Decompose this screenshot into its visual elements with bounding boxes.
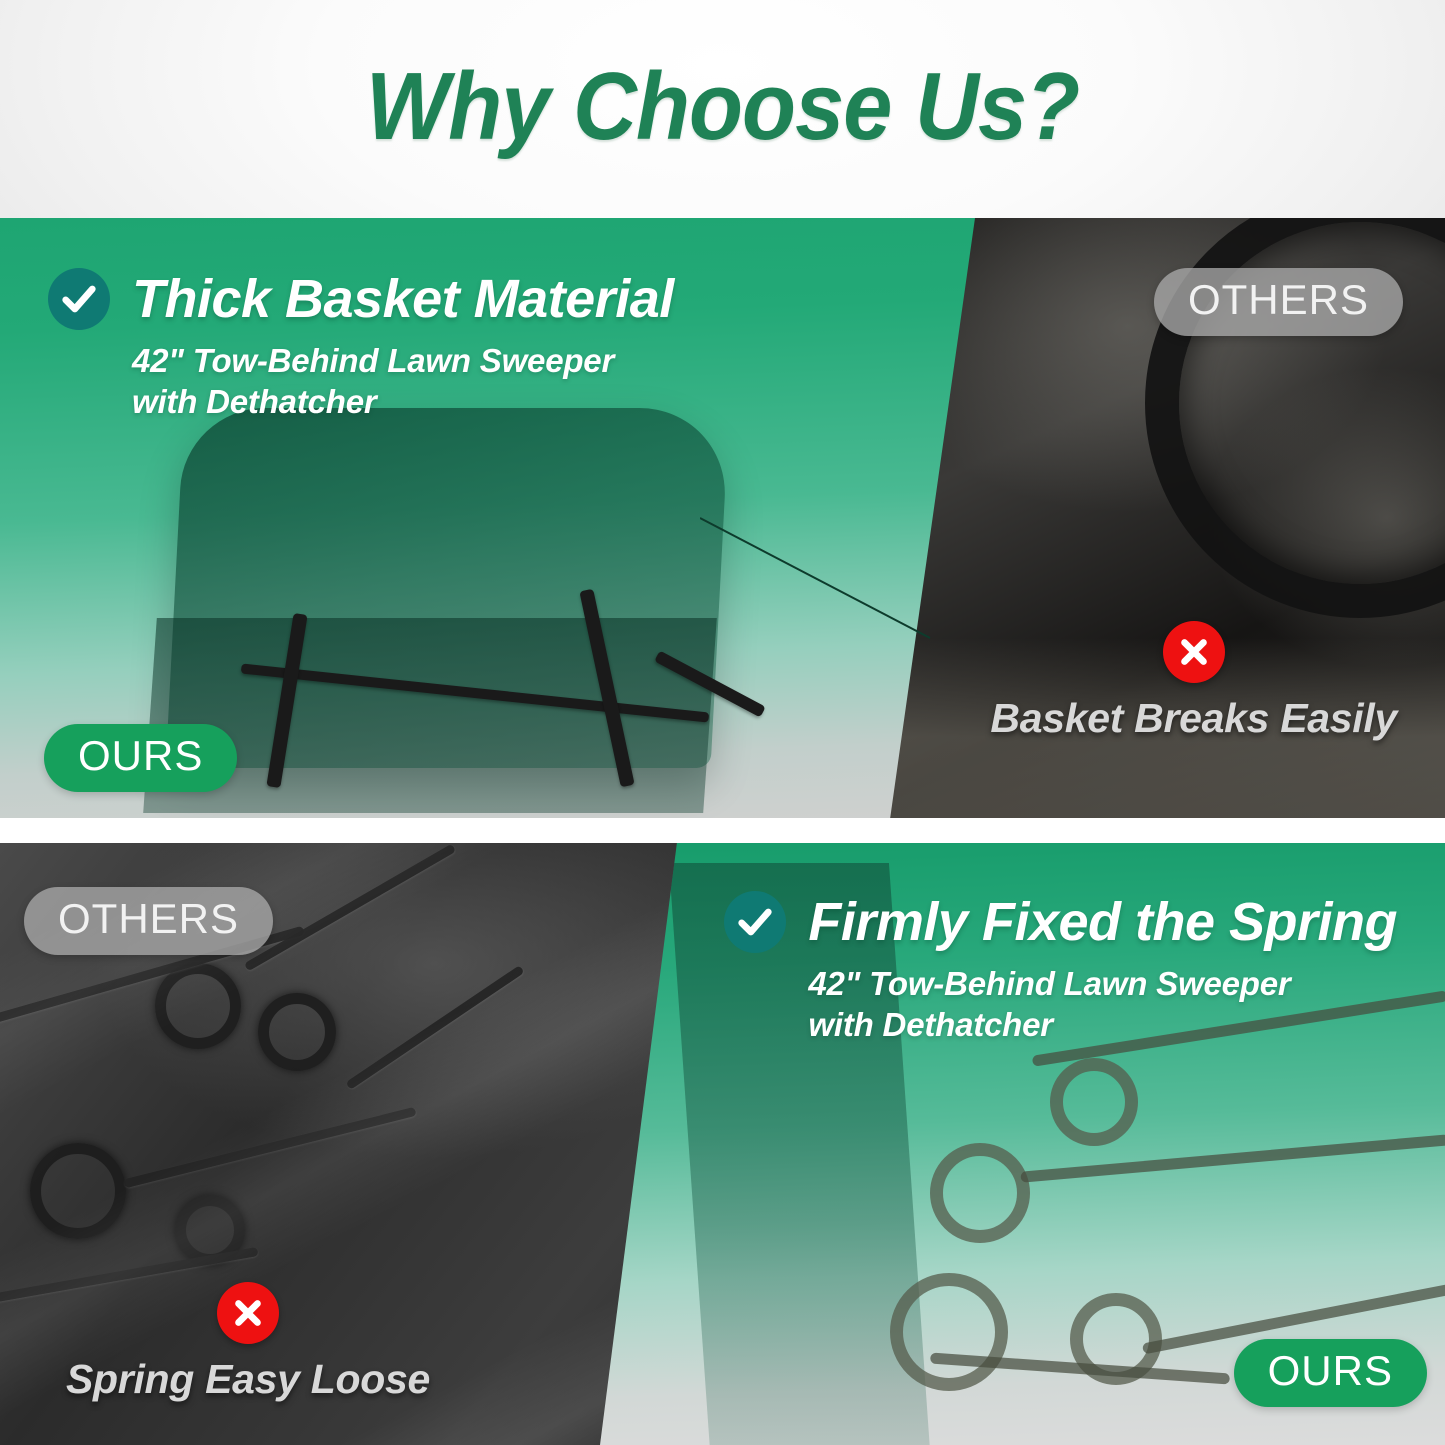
check-icon bbox=[48, 268, 110, 330]
coil-shape bbox=[155, 963, 241, 1049]
check-icon bbox=[724, 891, 786, 953]
coil-shape bbox=[930, 1143, 1030, 1243]
feature-heading-row: Thick Basket Material bbox=[48, 268, 674, 330]
page-title: Why Choose Us? bbox=[58, 52, 1387, 162]
con-text: Basket Breaks Easily bbox=[990, 695, 1397, 742]
coil-shape bbox=[258, 993, 336, 1071]
ours-badge: OURS bbox=[1234, 1339, 1427, 1407]
wire-shape bbox=[123, 1107, 416, 1188]
coil-shape bbox=[175, 1195, 245, 1265]
comparison-infographic: Why Choose Us? Thick Bas bbox=[0, 0, 1445, 1445]
callout-line bbox=[700, 508, 960, 668]
x-icon bbox=[217, 1282, 279, 1344]
feature-subtitle: 42" Tow-Behind Lawn Sweeper with Dethatc… bbox=[808, 963, 1397, 1046]
panel-firmly-fixed-the-spring: Firmly Fixed the Spring 42" Tow-Behind L… bbox=[0, 843, 1445, 1445]
ours-badge: OURS bbox=[44, 724, 237, 792]
wire-shape bbox=[244, 844, 456, 972]
coil-shape bbox=[890, 1273, 1008, 1391]
feature-block: Thick Basket Material 42" Tow-Behind Law… bbox=[48, 268, 674, 423]
wire-shape bbox=[345, 965, 524, 1090]
panel-thick-basket-material: Thick Basket Material 42" Tow-Behind Law… bbox=[0, 218, 1445, 818]
others-badge: OTHERS bbox=[1154, 268, 1403, 336]
others-badge: OTHERS bbox=[24, 887, 273, 955]
header-banner: Why Choose Us? bbox=[0, 0, 1445, 218]
feature-heading-row: Firmly Fixed the Spring bbox=[724, 891, 1397, 953]
x-icon bbox=[1163, 621, 1225, 683]
feature-subtitle: 42" Tow-Behind Lawn Sweeper with Dethatc… bbox=[132, 340, 674, 423]
con-text: Spring Easy Loose bbox=[66, 1356, 430, 1403]
feature-title: Thick Basket Material bbox=[132, 268, 674, 330]
feature-title: Firmly Fixed the Spring bbox=[808, 891, 1397, 953]
con-block: Spring Easy Loose bbox=[66, 1282, 430, 1403]
coil-shape bbox=[30, 1143, 126, 1239]
coil-shape bbox=[1050, 1058, 1138, 1146]
con-block: Basket Breaks Easily bbox=[990, 621, 1397, 742]
feature-block: Firmly Fixed the Spring 42" Tow-Behind L… bbox=[724, 891, 1397, 1046]
